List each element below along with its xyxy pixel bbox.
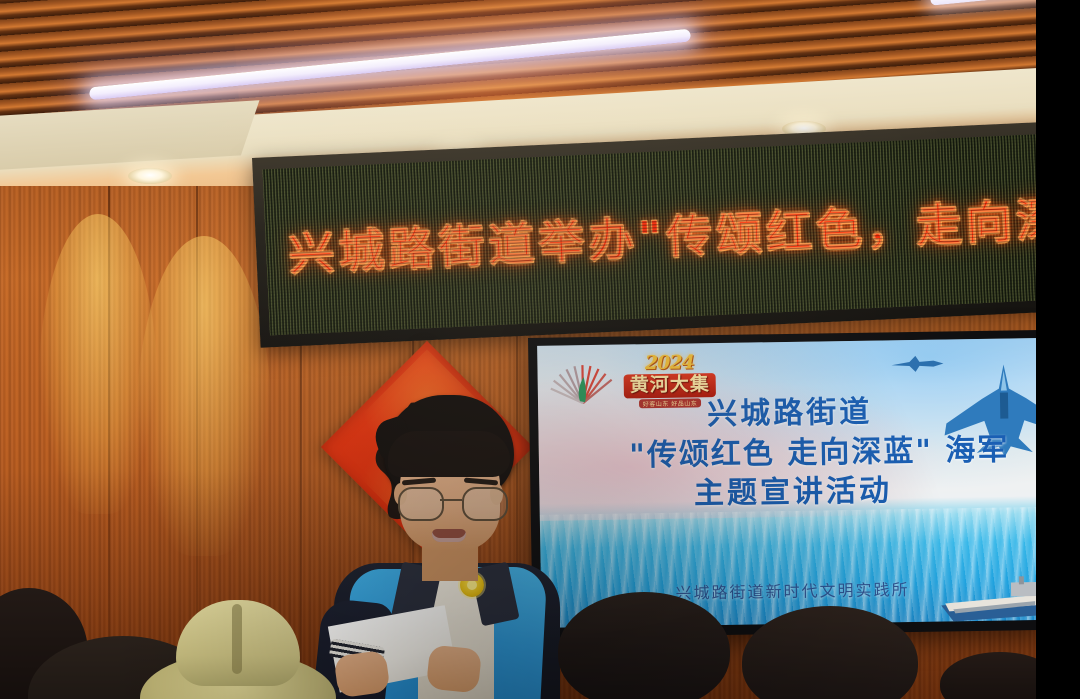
projection-screen: 2024 黄河大集 好客山东 好品山东	[528, 330, 1045, 638]
slide-title-line-3: 主题宣讲活动	[543, 469, 1043, 516]
speaker-person	[300, 395, 600, 699]
speaker-hair-fringe	[388, 431, 510, 477]
right-black-bar	[1036, 0, 1080, 699]
led-banner-frame: 兴城路街道举办"传颂红色，走向深蓝"海	[252, 122, 1060, 348]
glasses-icon	[396, 487, 508, 517]
led-banner-screen: 兴城路街道举办"传颂红色，走向深蓝"海	[263, 134, 1050, 335]
slide-title: 兴城路街道 "传颂红色 走向深蓝" 海军 主题宣讲活动	[538, 390, 1043, 517]
glasses-lens-right	[462, 487, 508, 521]
projection-screen-surface: 2024 黄河大集 好客山东 好品山东	[537, 338, 1044, 628]
led-banner: 兴城路街道举办"传颂红色，走向深蓝"海	[252, 122, 1060, 348]
slide-title-line-2: "传颂红色 走向深蓝" 海军	[597, 430, 1043, 477]
projection-screen-bezel: 2024 黄河大集 好客山东 好品山东	[528, 330, 1045, 638]
glasses-bridge	[440, 499, 462, 501]
glasses-lens-left	[398, 487, 444, 521]
audience-head	[558, 592, 730, 699]
downlight-icon	[128, 168, 172, 184]
hat-crease	[232, 604, 242, 674]
aircraft-carrier-icon	[939, 574, 1045, 628]
speaker-mouth	[432, 529, 466, 542]
speaker-hand-right	[426, 644, 482, 693]
photo-scene: 兴城路街道举办"传颂红色，走向深蓝"海	[0, 0, 1080, 699]
fighter-jet-small-icon	[889, 353, 945, 374]
led-banner-text: 兴城路街道举办"传颂红色，走向深蓝"海	[287, 177, 1049, 284]
fair-logo-year: 2024	[645, 353, 694, 373]
wall-panel-seam	[108, 186, 110, 699]
audience-khaki-hat	[140, 600, 336, 699]
